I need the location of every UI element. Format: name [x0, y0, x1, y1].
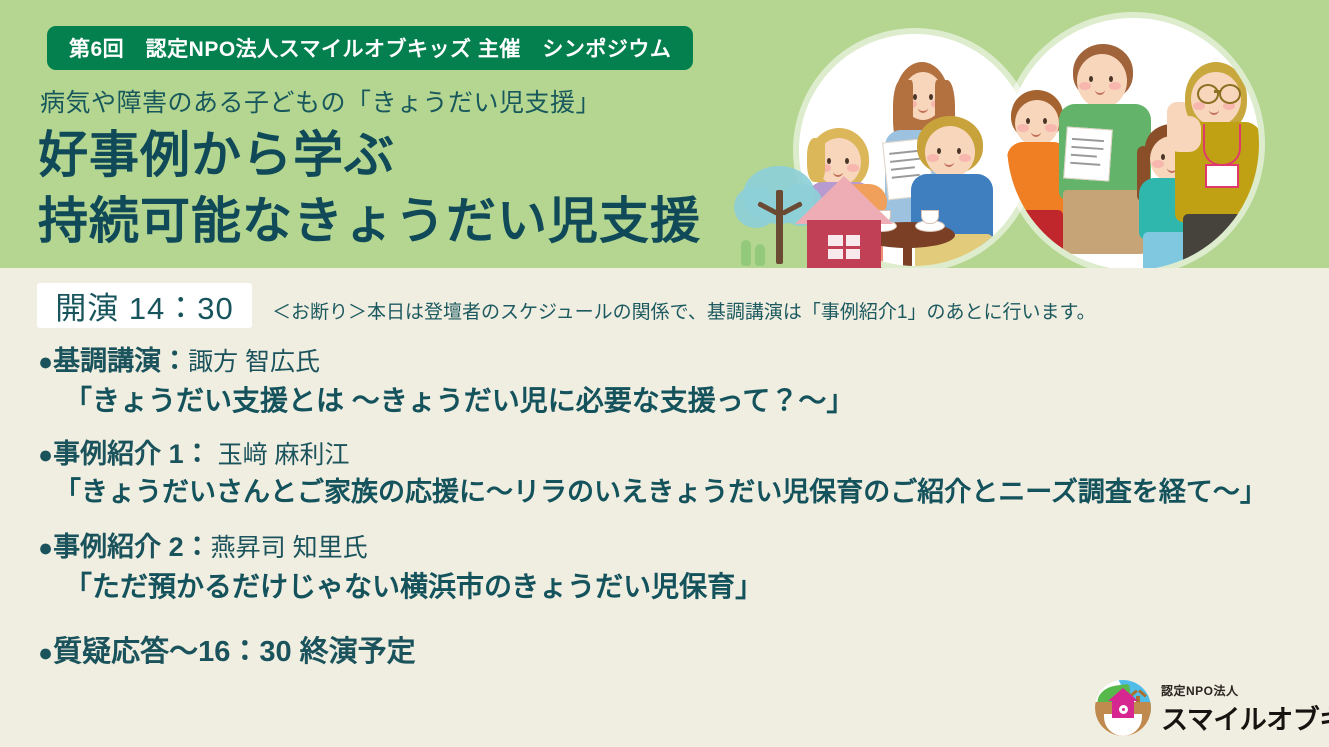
program-item-speaker: 燕昇司 知里氏	[211, 534, 368, 562]
page-title-line1: 好事例から学ぶ	[38, 122, 701, 188]
program-item-speaker: 諏方 智広氏	[188, 348, 320, 376]
program-list: ●基調講演：諏方 智広氏 「きょうだい支援とは 〜きょうだい児に必要な支援って？…	[38, 345, 1311, 686]
program-item-label: 事例紹介 2：	[53, 532, 211, 562]
logo-mark-icon	[1095, 680, 1151, 736]
logo-npo-label: 認定NPO法人	[1161, 682, 1239, 699]
bullet-icon: ●	[38, 348, 53, 376]
figure-child-boy-pants	[1013, 210, 1063, 260]
glasses-icon	[1219, 84, 1241, 104]
figure-staff-hand	[1167, 116, 1201, 152]
program-item-head: ●質疑応答〜16：30 終演予定	[38, 634, 1311, 670]
program-item-title: 「きょうだい支援とは 〜きょうだい児に必要な支援って？〜」	[64, 383, 1311, 418]
program-item-keynote: ●基調講演：諏方 智広氏 「きょうだい支援とは 〜きょうだい児に必要な支援って？…	[38, 345, 1311, 418]
event-badge: 第6回 認定NPO法人スマイルオブキッズ 主催 シンポジウム	[47, 26, 693, 70]
logo-org-name: スマイルオブキッズ	[1161, 698, 1329, 737]
bullet-icon: ●	[38, 639, 53, 667]
figure-staff-nametag	[1205, 164, 1239, 188]
program-item-head: ●事例紹介 1： 玉﨑 麻利江	[38, 438, 1311, 472]
page-title: 好事例から学ぶ 持続可能なきょうだい児支援	[38, 122, 701, 254]
figure-child-boy-face	[1015, 100, 1059, 146]
header-band: 第6回 認定NPO法人スマイルオブキッズ 主催 シンポジウム 病気や障害のある子…	[0, 0, 1329, 268]
organization-logo: 認定NPO法人 スマイルオブキッズ	[1095, 676, 1315, 738]
program-item-label: 基調講演：	[53, 346, 188, 376]
header-subtitle: 病気や障害のある子どもの「きょうだい児支援」	[40, 83, 601, 119]
program-item-title: 「ただ預かるだけじゃない横浜市のきょうだい児保育」	[64, 569, 1311, 604]
program-item-label: 事例紹介 1：	[53, 439, 211, 469]
figure-staff-skirt	[1183, 214, 1259, 268]
start-time-badge: 開演 14：30	[37, 283, 252, 328]
figure-father-face	[1077, 54, 1127, 108]
schedule-notice: ＜お断り＞本日は登壇者のスケジュールの関係で、基調講演は「事例紹介1」のあとに行…	[272, 297, 1096, 324]
header-illustration	[749, 0, 1329, 268]
program-item-head: ●事例紹介 2：燕昇司 知里氏	[38, 531, 1311, 565]
program-item-case1: ●事例紹介 1： 玉﨑 麻利江 「きょうだいさんとご家族の応援に〜リラのいえきょ…	[38, 438, 1311, 510]
program-item-head: ●基調講演：諏方 智広氏	[38, 345, 1311, 379]
program-item-label: 質疑応答〜16：30 終演予定	[53, 636, 416, 668]
page-title-line2: 持続可能なきょうだい児支援	[38, 188, 701, 254]
figure-boy-face	[925, 126, 975, 178]
house-tree-decoration	[729, 160, 859, 268]
program-item-speaker: 玉﨑 麻利江	[211, 441, 350, 469]
program-item-case2: ●事例紹介 2：燕昇司 知里氏 「ただ預かるだけじゃない横浜市のきょうだい児保育…	[38, 531, 1311, 604]
program-item-qa: ●質疑応答〜16：30 終演予定	[38, 634, 1311, 670]
program-item-title: 「きょうだいさんとご家族の応援に〜リラのいえきょうだい児保育のご紹介とニーズ調査…	[54, 476, 1311, 510]
bullet-icon: ●	[38, 534, 53, 562]
bullet-icon: ●	[38, 441, 53, 469]
table-leg	[903, 240, 912, 266]
illustration-group-right	[1007, 18, 1259, 268]
glasses-icon	[1197, 84, 1219, 104]
figure-father-shorts	[1063, 190, 1145, 254]
figure-staff-lanyard	[1203, 124, 1241, 166]
figure-father-paper	[1063, 126, 1113, 181]
slide-canvas: 第6回 認定NPO法人スマイルオブキッズ 主催 シンポジウム 病気や障害のある子…	[0, 0, 1329, 747]
